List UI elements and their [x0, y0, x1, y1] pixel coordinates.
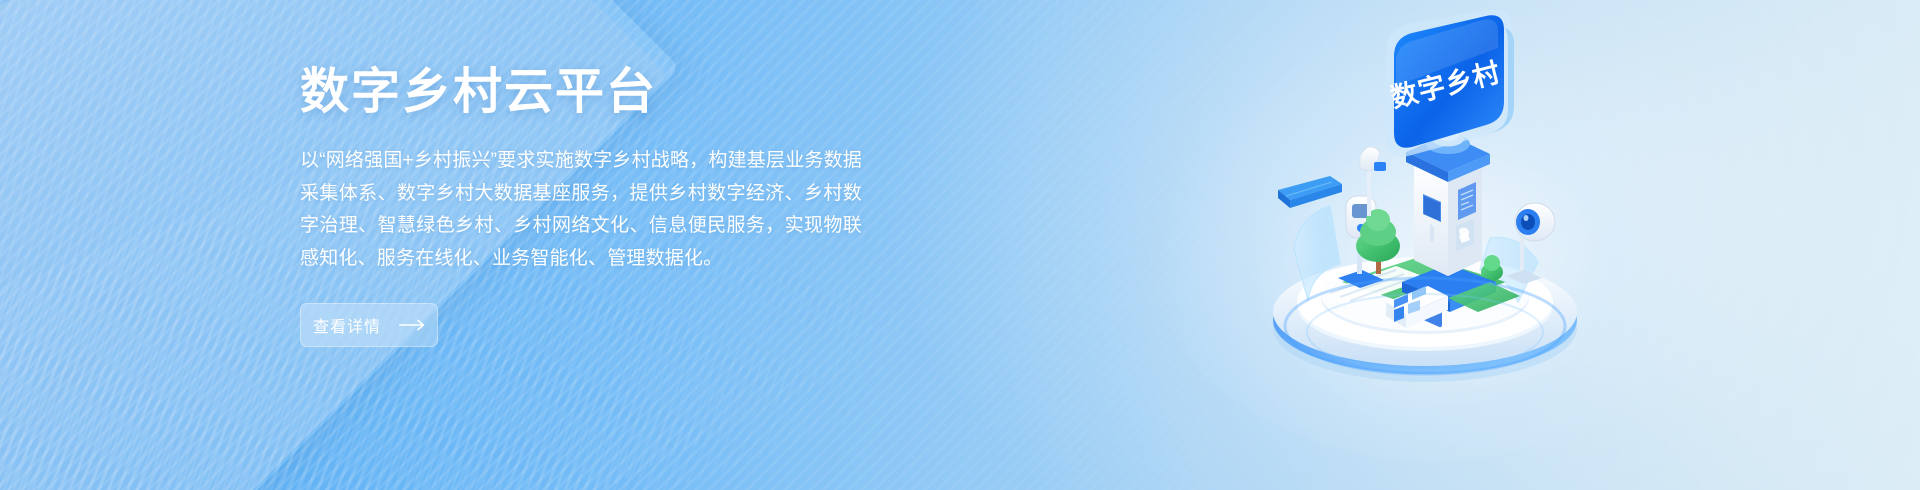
hero-content: 数字乡村云平台 以“网络强国+乡村振兴”要求实施数字乡村战略，构建基层业务数据采…: [300, 62, 900, 347]
hero-banner: 数字乡村云平台 以“网络强国+乡村振兴”要求实施数字乡村战略，构建基层业务数据采…: [0, 0, 1920, 490]
billboard-screen: 数字乡村: [1386, 10, 1514, 157]
arrow-right-icon: [399, 319, 425, 331]
view-details-button[interactable]: 查看详情: [300, 303, 438, 347]
solar-panel: [1278, 176, 1342, 208]
digital-village-illustration: 数字乡村: [1190, 10, 1650, 390]
view-details-label: 查看详情: [313, 313, 381, 337]
page-title: 数字乡村云平台: [300, 62, 900, 123]
hero-description: 以“网络强国+乡村振兴”要求实施数字乡村战略，构建基层业务数据采集体系、数字乡村…: [300, 145, 862, 275]
